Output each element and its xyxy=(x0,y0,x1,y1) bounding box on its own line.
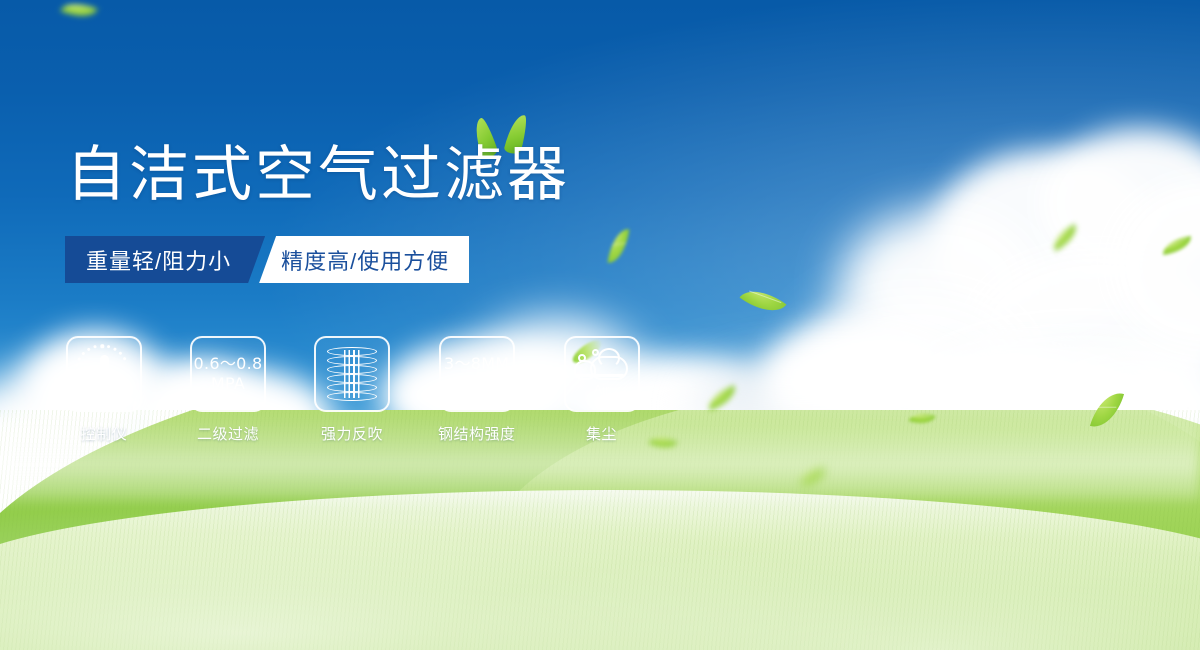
steel-plate-icon: 3～8MM 钢板 xyxy=(439,336,515,412)
feature-item-dust-collection[interactable]: Air 集尘 xyxy=(564,336,640,444)
feature-list: NO OFF 控制仪 0.6～0.8 MPA 二级过滤 xyxy=(66,336,640,444)
steel-line-1: 3～8MM xyxy=(444,354,509,374)
product-banner: 自洁式空气过滤器 重量轻/阻力小 精度高/使用方便 xyxy=(0,0,1200,650)
dust-icon-box: Air xyxy=(564,336,640,412)
dial-label-no: NO xyxy=(71,367,82,379)
steel-line-2: 钢板 xyxy=(460,374,493,394)
dial-label-off: OFF xyxy=(119,389,133,404)
feature-label-blowback: 强力反吹 xyxy=(321,423,383,444)
page-title: 自洁式空气过滤器 xyxy=(66,142,570,208)
feature-label-steel-strength: 钢结构强度 xyxy=(438,423,516,444)
pressure-line-1: 0.6～0.8 xyxy=(194,354,263,374)
feature-item-controller[interactable]: NO OFF 控制仪 xyxy=(66,336,142,444)
filter-coil-icon xyxy=(327,347,377,401)
air-cloud-icon: Air xyxy=(572,348,632,400)
banner-content: 自洁式空气过滤器 重量轻/阻力小 精度高/使用方便 xyxy=(0,0,1200,650)
subtitle-ribbon: 重量轻/阻力小 精度高/使用方便 xyxy=(65,236,469,283)
feature-label-secondary-filter: 二级过滤 xyxy=(197,423,259,444)
feature-item-secondary-filter[interactable]: 0.6～0.8 MPA 二级过滤 xyxy=(190,336,266,444)
pressure-value-icon: 0.6～0.8 MPA xyxy=(190,336,266,412)
feature-label-controller: 控制仪 xyxy=(81,423,128,444)
feature-label-dust-collection: 集尘 xyxy=(586,423,617,444)
feature-item-blowback[interactable]: 强力反吹 xyxy=(314,336,390,444)
blowback-icon-box xyxy=(314,336,390,412)
control-dial-icon: NO OFF xyxy=(73,343,135,405)
dial-needle xyxy=(100,355,109,395)
ribbon-left-segment: 重量轻/阻力小 xyxy=(65,236,265,283)
feature-item-steel-strength[interactable]: 3～8MM 钢板 钢结构强度 xyxy=(438,336,516,444)
ribbon-right-segment: 精度高/使用方便 xyxy=(259,236,469,283)
controller-icon-box: NO OFF xyxy=(66,336,142,412)
pressure-line-2: MPA xyxy=(211,374,245,394)
air-label: Air xyxy=(572,382,632,397)
